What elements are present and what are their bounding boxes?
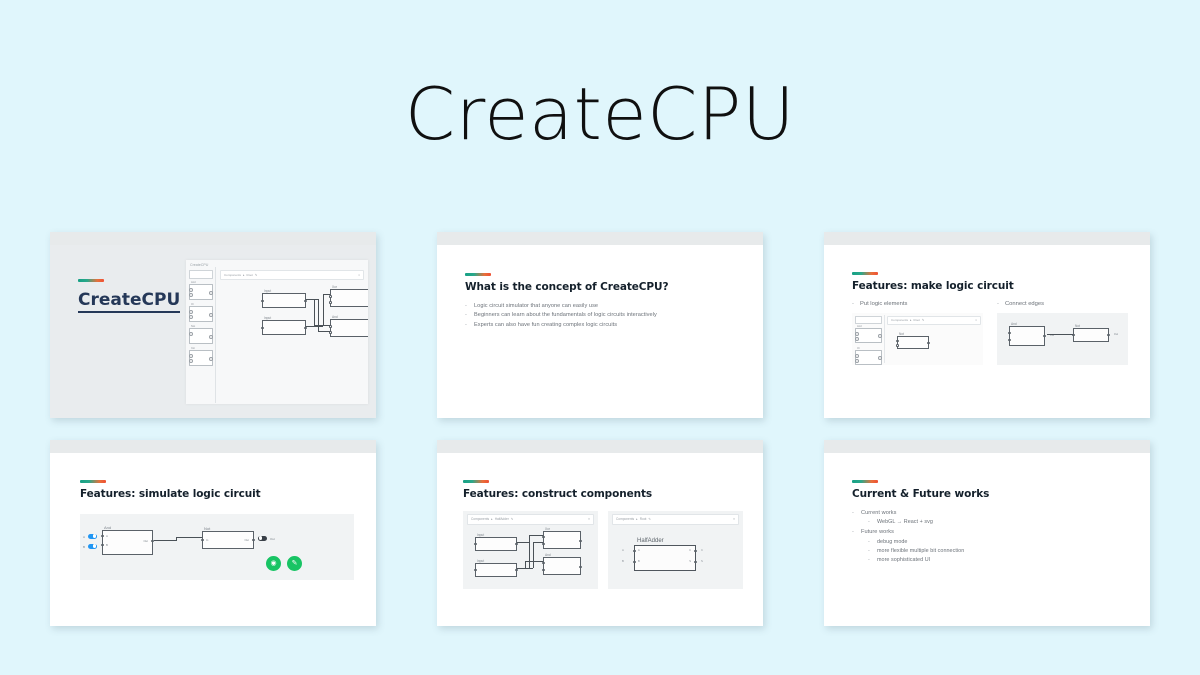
wire (517, 568, 533, 569)
slide-thumbnail-construct[interactable]: Features: construct components Component… (437, 440, 763, 626)
input-label: B (83, 545, 85, 549)
port-icon[interactable] (515, 569, 518, 572)
gate-block[interactable]: Not (897, 336, 929, 349)
bullet-dash-icon: - (868, 556, 877, 565)
close-icon[interactable]: × (975, 318, 977, 322)
list-item: - Future works (852, 528, 1128, 538)
breadcrumb-label: Components (224, 273, 241, 277)
list-item: - WebGL → React + svg (852, 518, 1128, 527)
gate-label: And (332, 315, 338, 319)
slide-topbar (824, 232, 1150, 245)
gate-block[interactable]: And (330, 319, 368, 337)
port-icon[interactable] (694, 550, 697, 553)
gate-block[interactable]: Xor (543, 531, 581, 549)
palette-item-label: Not (191, 325, 195, 328)
input-toggle[interactable] (88, 534, 97, 539)
palette-item-label: Or (857, 347, 860, 350)
close-icon[interactable]: × (733, 517, 735, 521)
port-icon (189, 315, 193, 319)
palette-item-label: And (191, 281, 196, 284)
column-put-elements: - Put logic elements And (852, 301, 983, 365)
pencil-icon[interactable]: ✎ (648, 517, 651, 521)
inner-port-label: B (638, 560, 640, 563)
inner-port-label: S (689, 560, 691, 563)
gate-label: Input (264, 289, 271, 293)
list-item: - Logic circuit simulator that anyone ca… (465, 302, 739, 312)
wire (533, 542, 534, 568)
palette-search-box[interactable] (189, 270, 213, 279)
port-icon[interactable] (261, 300, 264, 303)
port-icon[interactable] (542, 543, 545, 546)
port-icon[interactable] (633, 550, 636, 553)
port-icon[interactable] (329, 301, 332, 304)
slide-topbar (437, 440, 763, 453)
gate-block[interactable]: And A B Out (102, 530, 153, 555)
gate-label: Xor (332, 285, 337, 289)
breadcrumb-current[interactable]: HalfAdder (495, 517, 509, 521)
bullet-dash-icon: - (868, 518, 877, 527)
slide-topbar (50, 440, 376, 453)
wire (306, 326, 323, 327)
close-icon[interactable]: × (588, 517, 590, 521)
port-icon (209, 357, 213, 361)
accent-bar-icon (465, 273, 491, 276)
gate-block[interactable]: Not In Out (202, 531, 254, 549)
wire (306, 299, 318, 300)
column-label: Connect edges (1005, 301, 1044, 307)
port-icon (189, 288, 193, 292)
accent-bar-icon (852, 272, 878, 275)
list-item-label: WebGL → React + svg (877, 518, 1128, 527)
bullet-dash-icon: - (852, 528, 861, 538)
external-input-label: A (622, 548, 624, 552)
breadcrumb-current[interactable]: Root (247, 273, 253, 277)
port-icon[interactable] (579, 566, 582, 569)
slide-heading: Features: simulate logic circuit (80, 488, 354, 500)
accent-bar-icon (78, 279, 104, 282)
wire (529, 535, 543, 536)
port-icon[interactable] (329, 295, 332, 298)
wire (314, 325, 330, 326)
gate-label: Input (264, 316, 271, 320)
component-panels: Components ▸ HalfAdder ✎ × Input Input (463, 511, 743, 589)
list-item: - Current works (852, 509, 1128, 519)
connect-edges-preview[interactable]: And Out Not Out (997, 313, 1128, 365)
slide-heading: Features: construct components (463, 488, 743, 500)
bullet-dash-icon: - (868, 547, 877, 556)
output-label: Out (270, 537, 275, 541)
accent-bar-icon (80, 480, 106, 483)
column-heading: - Connect edges (997, 301, 1128, 307)
list-item-label: Logic circuit simulator that anyone can … (474, 302, 739, 312)
list-item-label: more flexible multiple bit connection (877, 547, 1128, 556)
port-icon (878, 356, 882, 360)
port-icon (209, 335, 213, 339)
list-item: - Beginners can learn about the fundamen… (465, 311, 739, 321)
chevron-right-icon: ▸ (636, 517, 638, 521)
breadcrumb-label: Components (891, 318, 908, 322)
bullet-dash-icon: - (852, 301, 860, 307)
port-label: Out (244, 538, 249, 542)
put-elements-preview[interactable]: And Or (852, 313, 983, 365)
palette-item[interactable]: And (189, 284, 213, 300)
port-icon[interactable] (101, 544, 104, 547)
wire (517, 542, 529, 543)
palette-item-label: And (857, 325, 862, 328)
breadcrumb-current[interactable]: Root (640, 517, 647, 521)
pencil-icon[interactable]: ✎ (511, 517, 514, 521)
wire (314, 300, 315, 325)
port-label: Out (1114, 333, 1118, 336)
slide-thumbnail-concept[interactable]: What is the concept of CreateCPU? - Logi… (437, 232, 763, 418)
palette-item-label: Or (191, 303, 194, 306)
bullet-list: - Logic circuit simulator that anyone ca… (465, 302, 739, 331)
gate-block[interactable]: And (543, 557, 581, 575)
breadcrumb-label: Components (616, 517, 634, 521)
port-icon[interactable] (261, 327, 264, 330)
external-output-label: S (701, 559, 703, 563)
port-icon (189, 359, 193, 363)
gate-label: Input (477, 533, 484, 537)
port-icon (855, 332, 859, 336)
port-icon[interactable] (542, 536, 545, 539)
slide-heading: Features: make logic circuit (852, 280, 1128, 292)
gate-label: Not (204, 526, 210, 531)
palette-item[interactable]: And (855, 328, 882, 343)
gate-block[interactable]: Input (475, 537, 517, 551)
list-item: - more sophisticated UI (852, 556, 1128, 565)
port-icon (189, 293, 193, 297)
port-label: Out (143, 539, 148, 543)
list-item-label: Beginners can learn about the fundamenta… (474, 311, 739, 321)
gate-block[interactable]: Input (262, 293, 306, 308)
createcpu-logo: CreateCPU (78, 290, 180, 313)
external-input-label: B (622, 559, 624, 563)
port-icon (209, 313, 213, 317)
gate-label: And (545, 553, 551, 557)
chevron-right-icon: ▸ (491, 517, 493, 521)
slide-content: Current & Future works - Current works -… (824, 453, 1150, 626)
slide-heading: What is the concept of CreateCPU? (465, 281, 739, 293)
breadcrumb[interactable]: Components ▸ Root ✎ × (220, 270, 364, 280)
port-label: In (206, 538, 208, 542)
wire (525, 561, 543, 562)
port-icon[interactable] (896, 340, 899, 343)
edit-button[interactable]: ✎ (287, 556, 302, 571)
port-label: B (106, 543, 108, 547)
record-button[interactable]: ◉ (266, 556, 281, 571)
port-icon[interactable] (474, 569, 477, 572)
gate-label: Xor (545, 527, 550, 531)
port-icon (878, 334, 882, 338)
port-icon[interactable] (101, 535, 104, 538)
gate-block[interactable]: Xor (330, 289, 368, 307)
slide-heading: Current & Future works (852, 488, 1128, 500)
halfadder-component-panel[interactable]: Components ▸ Root ✎ × HalfAdder A B (608, 511, 743, 589)
palette-item-label: Xor (191, 347, 195, 350)
slide-content: Features: make logic circuit - Put logic… (824, 245, 1150, 418)
wire (176, 537, 202, 538)
slide-thumbnail-title[interactable]: CreateCPU CreateCPU And Or (50, 232, 376, 418)
pencil-icon: ✎ (292, 559, 298, 567)
wire (323, 294, 324, 326)
column-group: - Put logic elements And (852, 301, 1128, 365)
output-toggle[interactable] (258, 536, 267, 541)
chevron-right-icon: ▸ (243, 273, 245, 277)
palette-item[interactable]: Xor (189, 350, 213, 366)
bullet-dash-icon: - (465, 302, 474, 312)
port-label: A (106, 534, 108, 538)
bullet-dash-icon: - (997, 301, 1005, 307)
port-icon[interactable] (474, 543, 477, 546)
gate-label: Input (477, 559, 484, 563)
port-icon[interactable] (542, 569, 545, 572)
input-toggle[interactable] (88, 544, 97, 549)
gate-label: Not (899, 332, 904, 336)
port-icon (189, 310, 193, 314)
port-icon[interactable] (1008, 332, 1011, 335)
port-icon[interactable] (1008, 339, 1011, 342)
gate-label: And (1011, 322, 1017, 326)
port-icon (189, 354, 193, 358)
bullet-dash-icon: - (852, 509, 861, 519)
slide-topbar (437, 232, 763, 245)
column-label: Put logic elements (860, 301, 907, 307)
slide-thumbnail-simulate[interactable]: Features: simulate logic circuit A B And… (50, 440, 376, 626)
list-item-label: Current works (861, 509, 1128, 519)
wire (529, 535, 530, 569)
breadcrumb[interactable]: Components ▸ Root ✎ × (887, 316, 981, 325)
halfadder-block[interactable]: HalfAdder A B C S (634, 545, 696, 571)
list-item-label: more sophisticated UI (877, 556, 1128, 565)
gate-block[interactable]: Not Out (1073, 328, 1109, 342)
slide-content: Features: construct components Component… (437, 453, 763, 626)
port-icon[interactable] (896, 344, 899, 347)
record-icon: ◉ (270, 559, 276, 567)
port-icon (209, 291, 213, 295)
app-window-title: CreateCPU (186, 260, 368, 267)
column-heading: - Put logic elements (852, 301, 983, 307)
bullet-dash-icon: - (868, 538, 877, 547)
wire (154, 540, 176, 541)
app-layout: And Or Not (186, 267, 368, 403)
list-item: - Experts can also have fun creating com… (465, 321, 739, 331)
input-label: A (83, 535, 85, 539)
slide-content: What is the concept of CreateCPU? - Logi… (437, 245, 763, 418)
close-icon[interactable]: × (358, 273, 360, 277)
wire (1047, 334, 1073, 335)
port-icon[interactable] (1043, 335, 1046, 338)
column-connect-edges: - Connect edges And Out Not (997, 301, 1128, 365)
component-palette[interactable]: And Or Not (186, 267, 216, 403)
slide-thumbnail-works[interactable]: Current & Future works - Current works -… (824, 440, 1150, 626)
pencil-icon[interactable]: ✎ (922, 318, 925, 322)
halfadder-internal-panel[interactable]: Components ▸ HalfAdder ✎ × Input Input (463, 511, 598, 589)
circuit-canvas[interactable]: Components ▸ Root ✎ × Input (216, 267, 368, 403)
port-icon (189, 332, 193, 336)
list-item: - more flexible multiple bit connection (852, 547, 1128, 556)
bullet-dash-icon: - (465, 311, 474, 321)
slide-topbar (824, 440, 1150, 453)
port-icon[interactable] (633, 561, 636, 564)
wire (533, 542, 543, 543)
port-icon[interactable] (1107, 334, 1110, 337)
slide-topbar (50, 232, 376, 245)
gate-block[interactable]: Input (475, 563, 517, 577)
list-item: - debug mode (852, 538, 1128, 547)
gate-block[interactable]: Input (262, 320, 306, 335)
inner-port-label: C (689, 549, 691, 552)
external-output-label: C (701, 548, 703, 552)
port-icon[interactable] (694, 561, 697, 564)
palette-item[interactable]: Not (189, 328, 213, 344)
list-item-label: Experts can also have fun creating compl… (474, 321, 739, 331)
breadcrumb[interactable]: Components ▸ Root ✎ × (612, 514, 739, 525)
slide-content: CreateCPU CreateCPU And Or (50, 245, 376, 418)
palette-item[interactable]: Or (189, 306, 213, 322)
port-icon[interactable] (927, 342, 930, 345)
breadcrumb[interactable]: Components ▸ HalfAdder ✎ × (467, 514, 594, 525)
port-icon[interactable] (201, 539, 204, 542)
palette-item[interactable]: Or (855, 350, 882, 365)
wire (525, 561, 526, 568)
gate-block[interactable]: And Out (1009, 326, 1045, 346)
port-icon (855, 337, 859, 341)
port-icon (855, 354, 859, 358)
port-icon[interactable] (252, 539, 255, 542)
accent-bar-icon (852, 480, 878, 483)
simulation-preview[interactable]: A B And A B Out Not In Out (80, 514, 354, 580)
breadcrumb-label: Components (471, 517, 489, 521)
slide-thumbnail-make-circuit[interactable]: Features: make logic circuit - Put logic… (824, 232, 1150, 418)
accent-bar-icon (463, 480, 489, 483)
inner-port-label: A (638, 549, 640, 552)
slide-grid: CreateCPU CreateCPU And Or (50, 232, 1154, 626)
list-item-label: Future works (861, 528, 1128, 538)
gate-label: And (104, 525, 111, 530)
wire (318, 331, 330, 332)
halfadder-label: HalfAdder (637, 538, 664, 544)
wire (318, 299, 319, 332)
port-icon[interactable] (515, 543, 518, 546)
app-screenshot: CreateCPU And Or (186, 260, 368, 404)
page-title: CreateCPU (0, 78, 1200, 150)
bullet-dash-icon: - (465, 321, 474, 331)
gate-label: Not (1075, 324, 1080, 328)
chevron-right-icon: ▸ (910, 318, 912, 322)
breadcrumb-current[interactable]: Root (914, 318, 920, 322)
port-icon[interactable] (542, 562, 545, 565)
pencil-icon[interactable]: ✎ (255, 273, 258, 277)
wire (323, 294, 330, 295)
port-icon (855, 359, 859, 363)
title-block: CreateCPU (50, 245, 186, 418)
list-item-label: debug mode (877, 538, 1128, 547)
slide-content: Features: simulate logic circuit A B And… (50, 453, 376, 626)
port-icon[interactable] (579, 540, 582, 543)
bullet-list: - Current works - WebGL → React + svg - … (852, 509, 1128, 566)
